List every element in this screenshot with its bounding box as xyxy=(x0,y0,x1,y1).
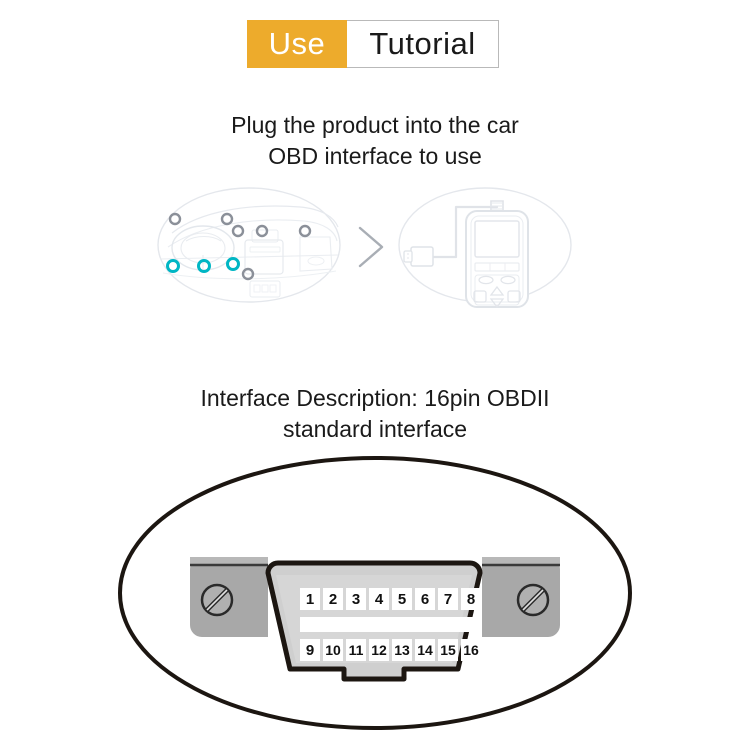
pin-bottom-14: 14 xyxy=(415,639,435,661)
connector-center-slot xyxy=(300,617,481,632)
pin-top-3-label: 3 xyxy=(352,591,360,608)
pin-top-3: 3 xyxy=(346,588,366,610)
badge-use-label: Use xyxy=(247,20,347,68)
pin-bottom-11-label: 11 xyxy=(349,642,364,658)
scanner-connector-ridges xyxy=(490,203,504,209)
dashboard-ellipse-outline xyxy=(158,188,340,302)
pin-bottom-12-label: 12 xyxy=(371,642,387,658)
pin-bottom-13: 13 xyxy=(392,639,412,661)
pin-bottom-10-label: 10 xyxy=(325,642,341,658)
pin-top-2-label: 2 xyxy=(329,591,337,608)
pin-bottom-9: 9 xyxy=(300,639,320,661)
glovebox-handle xyxy=(308,257,324,265)
page-title-badge: Use Tutorial xyxy=(247,20,499,68)
connector-bracket-left xyxy=(190,557,268,637)
pin-bottom-16: 16 xyxy=(461,639,481,661)
pin-top-5: 5 xyxy=(392,588,412,610)
pin-top-6: 6 xyxy=(415,588,435,610)
steering-wheel-spoke-top xyxy=(186,237,221,242)
pin-top-5-label: 5 xyxy=(398,591,406,608)
pin-top-4-label: 4 xyxy=(375,591,384,608)
interface-caption: Interface Description: 16pin OBDII stand… xyxy=(0,383,750,445)
pin-bottom-12: 12 xyxy=(369,639,389,661)
pin-bottom-16-label: 16 xyxy=(463,642,479,658)
step-caption: Plug the product into the car OBD interf… xyxy=(0,110,750,172)
illustration-row-svg xyxy=(0,185,750,310)
pin-bottom-15: 15 xyxy=(438,639,458,661)
shifter-slot-2 xyxy=(262,285,268,292)
illustration-row xyxy=(0,185,750,310)
pin-top-8-label: 8 xyxy=(467,591,475,608)
step-caption-line2: OBD interface to use xyxy=(0,141,750,172)
obd-plug-tip xyxy=(404,251,412,262)
obd-scanner-illustration xyxy=(399,188,571,307)
scanner-function-strip xyxy=(475,263,519,271)
pin-top-1-label: 1 xyxy=(306,591,314,608)
pin-top-6-label: 6 xyxy=(421,591,429,608)
pin-bottom-9-label: 9 xyxy=(306,642,314,659)
pin-bottom-15-label: 15 xyxy=(440,642,456,658)
gear-shifter-base xyxy=(250,281,280,297)
step-caption-line1: Plug the product into the car xyxy=(0,110,750,141)
connector-bracket-right xyxy=(482,557,560,637)
pin-bottom-10: 10 xyxy=(323,639,343,661)
pin-top-4: 4 xyxy=(369,588,389,610)
car-dashboard-illustration xyxy=(158,188,340,302)
pin-top-7: 7 xyxy=(438,588,458,610)
dashboard-port-markers-gray xyxy=(170,214,310,279)
interface-caption-line1: Interface Description: 16pin OBDII xyxy=(0,383,750,414)
interface-caption-line2: standard interface xyxy=(0,414,750,445)
obd-plug-body xyxy=(411,247,433,266)
obd-connector-diagram: 1 2 3 4 5 6 7 8 9 10 11 12 13 14 15 16 xyxy=(0,455,750,740)
pin-bottom-13-label: 13 xyxy=(394,642,410,658)
passenger-dash-panel xyxy=(300,237,332,271)
pin-top-8: 8 xyxy=(461,588,481,610)
pin-bottom-14-label: 14 xyxy=(417,642,433,658)
shifter-slot-3 xyxy=(270,285,276,292)
badge-tutorial-label: Tutorial xyxy=(347,20,499,68)
pin-top-2: 2 xyxy=(323,588,343,610)
shifter-slot-1 xyxy=(254,285,260,292)
pin-top-7-label: 7 xyxy=(444,591,452,608)
tutorial-page: Use Tutorial Plug the product into the c… xyxy=(0,0,750,750)
console-vent xyxy=(250,247,280,252)
chevron-right-icon xyxy=(360,228,382,266)
obd-connector-svg: 1 2 3 4 5 6 7 8 9 10 11 12 13 14 15 16 xyxy=(0,455,750,740)
pin-bottom-11: 11 xyxy=(346,639,366,661)
dashboard-windshield-line xyxy=(172,206,338,233)
pin-top-1: 1 xyxy=(300,588,320,610)
scanner-screen xyxy=(475,221,519,257)
